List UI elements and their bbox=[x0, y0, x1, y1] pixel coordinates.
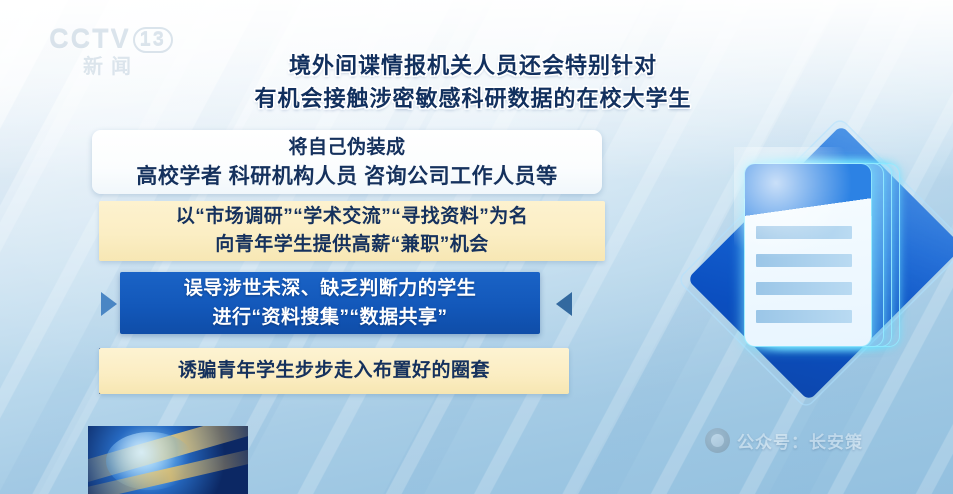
channel-subtitle: 新闻 bbox=[36, 55, 186, 79]
text-line: 进行“资料搜集”“数据共享” bbox=[120, 303, 540, 332]
text-block-disguise: 将自己伪装成 高校学者 科研机构人员 咨询公司工作人员等 bbox=[92, 130, 602, 194]
text-line: 向青年学生提供高薪“兼职”机会 bbox=[99, 231, 605, 259]
text-block-trap: 诱骗青年学生步步走入布置好的圈套 bbox=[99, 348, 569, 394]
text-line: 将自己伪装成 bbox=[92, 133, 602, 162]
globe-highlight bbox=[106, 432, 194, 490]
triangle-left-icon bbox=[556, 292, 572, 316]
text-line: 诱骗青年学生步步走入布置好的圈套 bbox=[178, 359, 490, 383]
text-line: 误导涉世未深、缺乏判断力的学生 bbox=[120, 274, 540, 303]
text-block-pretext: 以“市场调研”“学术交流”“寻找资料”为名 向青年学生提供高薪“兼职”机会 bbox=[99, 201, 605, 261]
globe-graphic bbox=[88, 426, 248, 494]
lower-third: 新闻棱镜 国家安全部 揭穿间谍套路 从"甜蜜"陷阱到暴力威胁 bbox=[0, 400, 953, 494]
channel-network-text: CCTV bbox=[49, 24, 131, 54]
text-block-mislead: 误导涉世未深、缺乏判断力的学生 进行“资料搜集”“数据共享” bbox=[120, 272, 540, 334]
page-text-line bbox=[756, 226, 852, 239]
document-stack-diamond-icon bbox=[688, 103, 953, 423]
page-stack bbox=[748, 163, 884, 349]
channel-number-badge: 13 bbox=[133, 27, 173, 53]
page-text-line bbox=[756, 254, 852, 267]
text-line: 以“市场调研”“学术交流”“寻找资料”为名 bbox=[99, 203, 605, 231]
channel-network-label: CCTV13 bbox=[36, 24, 186, 54]
triangle-right-icon bbox=[101, 292, 117, 316]
text-line: 境外间谍情报机关人员还会特别针对 bbox=[239, 50, 707, 81]
text-block-intro: 境外间谍情报机关人员还会特别针对 有机会接触涉密敏感科研数据的在校大学生 bbox=[239, 49, 707, 115]
text-line: 高校学者 科研机构人员 咨询公司工作人员等 bbox=[92, 162, 602, 191]
broadcast-frame: CCTV13 新闻 境外间谍情报机关人员还会特别针对 有机会接触涉密敏感科研数据… bbox=[0, 0, 953, 494]
channel-logo: CCTV13 新闻 bbox=[36, 24, 186, 86]
page-text-line bbox=[756, 282, 852, 295]
page-text-line bbox=[756, 310, 852, 323]
text-line: 有机会接触涉密敏感科研数据的在校大学生 bbox=[239, 83, 707, 114]
page-sheet-front bbox=[744, 163, 872, 347]
